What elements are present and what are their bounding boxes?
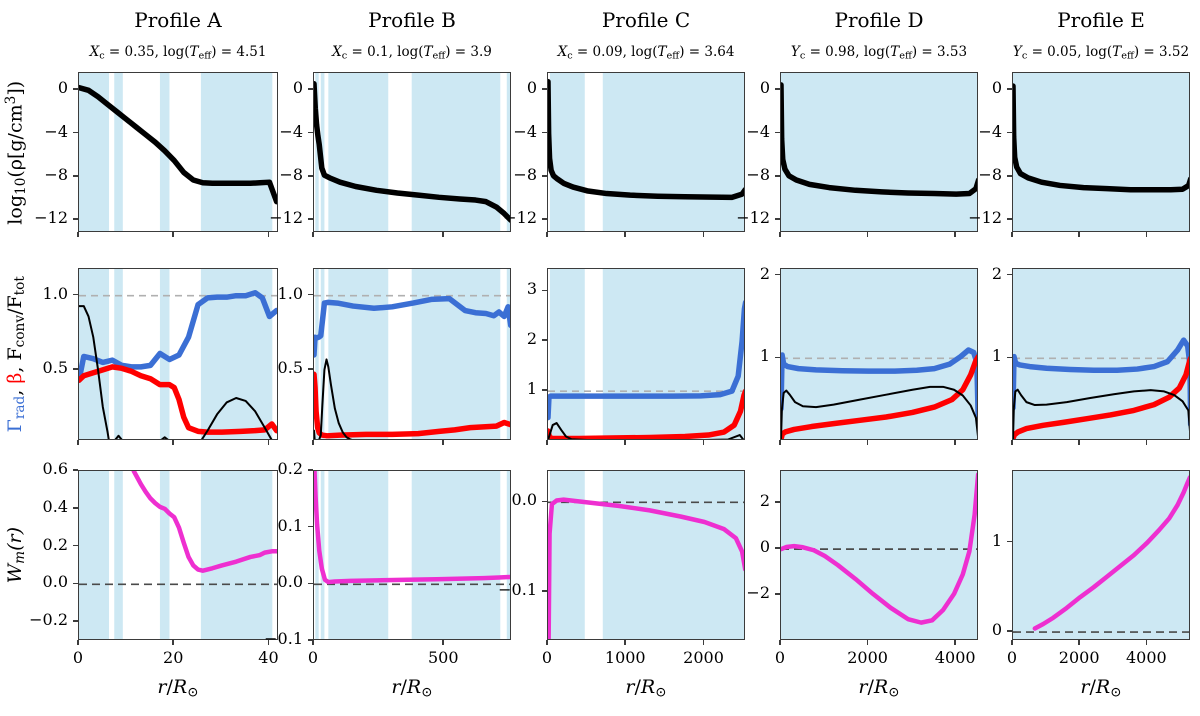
panel-subtitle-d: Yc = 0.98, log(Teff) = 3.53 bbox=[749, 44, 1009, 61]
ytick-label: 1 bbox=[469, 379, 537, 398]
ytick-label: −4 bbox=[702, 122, 770, 141]
ytick-label: −8 bbox=[0, 165, 68, 184]
xtick-mark bbox=[442, 232, 444, 237]
xtick-mark bbox=[546, 232, 548, 237]
plot-wm-e bbox=[1012, 470, 1190, 640]
ytick-label: −4 bbox=[469, 122, 537, 141]
plot-density-e bbox=[1012, 72, 1190, 232]
ytick-label: 2 bbox=[702, 491, 770, 510]
xtick-mark bbox=[442, 440, 444, 445]
ytick-mark bbox=[308, 294, 313, 296]
ytick-mark bbox=[775, 357, 780, 359]
ytick-mark bbox=[1007, 630, 1012, 632]
ytick-mark bbox=[542, 501, 547, 503]
xtick-mark bbox=[1078, 640, 1080, 645]
xtick-mark bbox=[172, 640, 174, 645]
ytick-mark bbox=[775, 175, 780, 177]
ytick-mark bbox=[73, 620, 78, 622]
ytick-label: 0.1 bbox=[235, 516, 303, 535]
ytick-label: 0.6 bbox=[0, 459, 68, 478]
xaxis-label-a: r/R⊙ bbox=[88, 676, 268, 700]
yaxis-label-wm: Wm(r) bbox=[4, 415, 28, 695]
xtick-mark bbox=[1011, 440, 1013, 445]
xtick-mark bbox=[1146, 640, 1148, 645]
xtick-label: 0 bbox=[268, 648, 358, 667]
xtick-mark bbox=[1011, 232, 1013, 237]
ytick-mark bbox=[1007, 541, 1012, 543]
xtick-mark bbox=[624, 640, 626, 645]
panel-subtitle-c: Xc = 0.09, log(Teff) = 3.64 bbox=[516, 44, 776, 61]
xtick-mark bbox=[779, 232, 781, 237]
ytick-label: 3 bbox=[469, 279, 537, 298]
xtick-label: 0 bbox=[33, 648, 123, 667]
plot-wm-d bbox=[780, 470, 978, 640]
ytick-label: 2 bbox=[934, 264, 1002, 283]
xtick-mark bbox=[77, 232, 79, 237]
ytick-label: 0 bbox=[702, 78, 770, 97]
ytick-mark bbox=[775, 274, 780, 276]
ytick-mark bbox=[73, 368, 78, 370]
xtick-mark bbox=[954, 640, 956, 645]
ytick-mark bbox=[308, 526, 313, 528]
ytick-mark bbox=[1007, 132, 1012, 134]
ytick-label: −0.2 bbox=[0, 610, 68, 629]
ytick-mark bbox=[1007, 357, 1012, 359]
xtick-mark bbox=[624, 440, 626, 445]
panel-subtitle-a: Xc = 0.35, log(Teff) = 4.51 bbox=[48, 44, 308, 61]
ytick-label: −0.1 bbox=[469, 580, 537, 599]
ytick-label: −4 bbox=[934, 122, 1002, 141]
ytick-label: 0 bbox=[235, 78, 303, 97]
xtick-mark bbox=[624, 232, 626, 237]
ytick-label: −12 bbox=[0, 208, 68, 227]
column-title-a: Profile A bbox=[48, 8, 308, 32]
xaxis-label-b: r/R⊙ bbox=[322, 676, 502, 700]
ytick-label: 2 bbox=[469, 329, 537, 348]
ytick-mark bbox=[775, 218, 780, 220]
ytick-mark bbox=[542, 88, 547, 90]
ytick-mark bbox=[1007, 175, 1012, 177]
plot-wm-a bbox=[78, 470, 278, 640]
ytick-label: 1 bbox=[702, 346, 770, 365]
xtick-mark bbox=[954, 440, 956, 445]
ytick-label: 1.0 bbox=[0, 284, 68, 303]
xtick-mark bbox=[172, 232, 174, 237]
ytick-label: −8 bbox=[235, 165, 303, 184]
ytick-mark bbox=[775, 547, 780, 549]
ytick-label: −0.1 bbox=[235, 629, 303, 648]
ytick-mark bbox=[1007, 274, 1012, 276]
ytick-mark bbox=[775, 501, 780, 503]
xtick-mark bbox=[867, 440, 869, 445]
xtick-mark bbox=[1011, 640, 1013, 645]
ytick-mark bbox=[73, 88, 78, 90]
figure-root: Profile AXc = 0.35, log(Teff) = 4.51r/R⊙… bbox=[0, 0, 1200, 716]
ytick-label: 0.5 bbox=[235, 358, 303, 377]
ytick-mark bbox=[542, 218, 547, 220]
ytick-mark bbox=[73, 583, 78, 585]
xtick-mark bbox=[546, 640, 548, 645]
panel-subtitle-b: Xc = 0.1, log(Teff) = 3.9 bbox=[282, 44, 542, 61]
ytick-label: −8 bbox=[702, 165, 770, 184]
xtick-mark bbox=[77, 440, 79, 445]
ytick-mark bbox=[1007, 218, 1012, 220]
ytick-label: 2 bbox=[702, 264, 770, 283]
ytick-mark bbox=[542, 590, 547, 592]
ytick-mark bbox=[775, 132, 780, 134]
xtick-mark bbox=[172, 440, 174, 445]
xtick-mark bbox=[779, 640, 781, 645]
xtick-mark bbox=[312, 232, 314, 237]
ytick-mark bbox=[308, 132, 313, 134]
ytick-label: 1 bbox=[934, 531, 1002, 550]
ytick-label: −8 bbox=[469, 165, 537, 184]
xtick-mark bbox=[954, 232, 956, 237]
xtick-label: 2000 bbox=[823, 648, 913, 667]
ytick-label: −12 bbox=[235, 208, 303, 227]
ytick-mark bbox=[308, 218, 313, 220]
xtick-mark bbox=[703, 232, 705, 237]
ytick-label: 0 bbox=[469, 78, 537, 97]
panel-subtitle-e: Yc = 0.05, log(Teff) = 3.52 bbox=[971, 44, 1200, 61]
ytick-mark bbox=[775, 593, 780, 595]
xaxis-label-d: r/R⊙ bbox=[789, 676, 969, 700]
ytick-label: 1 bbox=[934, 346, 1002, 365]
ytick-mark bbox=[542, 175, 547, 177]
ytick-mark bbox=[73, 294, 78, 296]
ytick-label: 0 bbox=[934, 620, 1002, 639]
xtick-mark bbox=[867, 640, 869, 645]
ytick-mark bbox=[775, 88, 780, 90]
xaxis-label-e: r/R⊙ bbox=[1011, 676, 1191, 700]
ytick-mark bbox=[308, 469, 313, 471]
xtick-mark bbox=[1146, 440, 1148, 445]
xtick-label: 500 bbox=[398, 648, 488, 667]
ytick-mark bbox=[73, 175, 78, 177]
xtick-mark bbox=[1146, 232, 1148, 237]
xtick-mark bbox=[867, 232, 869, 237]
ytick-label: −12 bbox=[469, 208, 537, 227]
ytick-mark bbox=[308, 175, 313, 177]
ytick-label: 0.0 bbox=[235, 572, 303, 591]
xtick-mark bbox=[268, 440, 270, 445]
ytick-mark bbox=[73, 218, 78, 220]
xaxis-label-c: r/R⊙ bbox=[556, 676, 736, 700]
ytick-mark bbox=[542, 389, 547, 391]
column-title-e: Profile E bbox=[971, 8, 1200, 32]
xtick-mark bbox=[1078, 440, 1080, 445]
ytick-label: −12 bbox=[702, 208, 770, 227]
xtick-mark bbox=[703, 440, 705, 445]
xtick-mark bbox=[779, 440, 781, 445]
ytick-mark bbox=[542, 132, 547, 134]
ytick-mark bbox=[73, 132, 78, 134]
xtick-mark bbox=[442, 640, 444, 645]
xtick-label: 0 bbox=[735, 648, 825, 667]
ytick-label: 0 bbox=[0, 78, 68, 97]
ytick-label: 1.0 bbox=[235, 284, 303, 303]
column-title-d: Profile D bbox=[749, 8, 1009, 32]
ytick-label: 0.2 bbox=[235, 459, 303, 478]
ytick-label: −4 bbox=[235, 122, 303, 141]
ytick-mark bbox=[542, 290, 547, 292]
ytick-label: −2 bbox=[702, 583, 770, 602]
ytick-label: 0.0 bbox=[0, 572, 68, 591]
xtick-mark bbox=[546, 440, 548, 445]
xtick-label: 20 bbox=[128, 648, 218, 667]
xtick-mark bbox=[312, 440, 314, 445]
xtick-label: 4000 bbox=[1101, 648, 1191, 667]
ytick-mark bbox=[73, 507, 78, 509]
ytick-mark bbox=[308, 583, 313, 585]
xtick-mark bbox=[312, 640, 314, 645]
xtick-mark bbox=[268, 232, 270, 237]
xtick-mark bbox=[703, 640, 705, 645]
xtick-mark bbox=[1078, 232, 1080, 237]
plot-flux-e bbox=[1012, 268, 1190, 440]
ytick-label: −12 bbox=[934, 208, 1002, 227]
ytick-label: 0.5 bbox=[0, 358, 68, 377]
ytick-mark bbox=[73, 545, 78, 547]
ytick-mark bbox=[1007, 88, 1012, 90]
ytick-label: −4 bbox=[0, 122, 68, 141]
ytick-mark bbox=[542, 339, 547, 341]
column-title-c: Profile C bbox=[516, 8, 776, 32]
ytick-mark bbox=[308, 368, 313, 370]
ytick-mark bbox=[73, 469, 78, 471]
ytick-label: 0 bbox=[934, 78, 1002, 97]
xtick-mark bbox=[77, 640, 79, 645]
ytick-label: 0.0 bbox=[469, 490, 537, 509]
column-title-b: Profile B bbox=[282, 8, 542, 32]
ytick-mark bbox=[308, 88, 313, 90]
xtick-label: 1000 bbox=[580, 648, 670, 667]
ytick-label: 0.4 bbox=[0, 497, 68, 516]
ytick-label: −8 bbox=[934, 165, 1002, 184]
xtick-label: 0 bbox=[502, 648, 592, 667]
ytick-label: 0.2 bbox=[0, 535, 68, 554]
ytick-label: 0 bbox=[702, 537, 770, 556]
